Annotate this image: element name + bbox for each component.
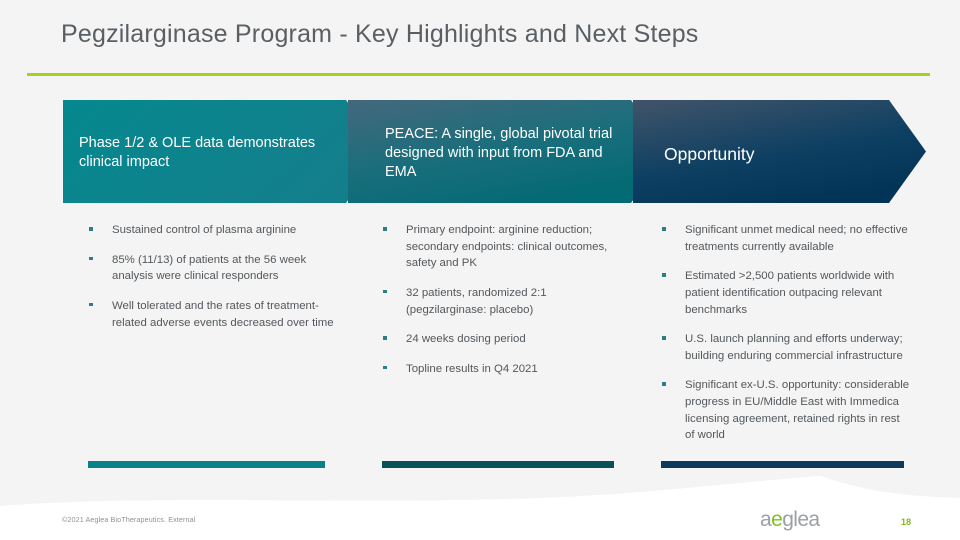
bullet-column-2: Primary endpoint: arginine reduction; se…	[382, 222, 627, 390]
bullet-text: Significant unmet medical need; no effec…	[685, 224, 908, 253]
bullet-text: Topline results in Q4 2021	[406, 363, 538, 375]
bullet-square-icon	[89, 257, 93, 261]
slide-canvas: Pegzilarginase Program - Key Highlights …	[0, 0, 960, 540]
bullet-column-1: Sustained control of plasma arginine 85%…	[88, 222, 338, 344]
bullet-square-icon	[383, 366, 387, 370]
logo-letters-glea: glea	[782, 508, 819, 531]
page-number: 18	[901, 517, 911, 527]
column-3-accent-bar	[661, 461, 904, 468]
bullet-square-icon	[89, 303, 93, 307]
title-underline-rule	[27, 73, 930, 76]
bullet-square-icon	[662, 227, 666, 231]
bullet-text: U.S. launch planning and efforts underwa…	[685, 333, 903, 362]
list-item: 24 weeks dosing period	[382, 331, 627, 348]
chevron-step-1-label: Phase 1/2 & OLE data demonstrates clinic…	[79, 134, 339, 172]
bullet-square-icon	[662, 336, 666, 340]
bullet-square-icon	[89, 227, 93, 231]
list-item: Significant ex-U.S. opportunity: conside…	[661, 377, 911, 444]
bullet-text: 32 patients, randomized 2:1 (pegzilargin…	[406, 287, 547, 316]
bullet-square-icon	[383, 227, 387, 231]
list-item: Primary endpoint: arginine reduction; se…	[382, 222, 627, 272]
chevron-step-2-label: PEACE: A single, global pivotal trial de…	[385, 125, 620, 182]
list-item: Sustained control of plasma arginine	[88, 222, 338, 239]
list-item: 85% (11/13) of patients at the 56 week a…	[88, 252, 338, 285]
list-item: U.S. launch planning and efforts underwa…	[661, 331, 911, 364]
bullet-text: Estimated >2,500 patients worldwide with…	[685, 270, 894, 315]
list-item: 32 patients, randomized 2:1 (pegzilargin…	[382, 285, 627, 318]
bullet-text: Well tolerated and the rates of treatmen…	[112, 300, 334, 329]
aeglea-logo: aeglea	[760, 508, 820, 532]
chevron-step-3-label: Opportunity	[664, 143, 894, 166]
logo-letter-e: e	[771, 508, 782, 531]
bullet-text: Significant ex-U.S. opportunity: conside…	[685, 379, 909, 441]
list-item: Significant unmet medical need; no effec…	[661, 222, 911, 255]
page-title: Pegzilarginase Program - Key Highlights …	[61, 20, 699, 49]
copyright-text: ©2021 Aeglea BioTherapeutics. External	[62, 515, 195, 524]
bullet-square-icon	[662, 382, 666, 386]
column-2-accent-bar	[382, 461, 614, 468]
bullet-square-icon	[662, 273, 666, 277]
bullet-text: 85% (11/13) of patients at the 56 week a…	[112, 254, 306, 283]
bullet-square-icon	[383, 290, 387, 294]
list-item: Topline results in Q4 2021	[382, 361, 627, 378]
bullet-text: Primary endpoint: arginine reduction; se…	[406, 224, 607, 269]
bullet-column-3: Significant unmet medical need; no effec…	[661, 222, 911, 457]
column-1-accent-bar	[88, 461, 325, 468]
logo-letter-a: a	[760, 508, 771, 531]
list-item: Well tolerated and the rates of treatmen…	[88, 298, 338, 331]
list-item: Estimated >2,500 patients worldwide with…	[661, 268, 911, 318]
bullet-text: 24 weeks dosing period	[406, 333, 526, 345]
bullet-text: Sustained control of plasma arginine	[112, 224, 296, 236]
bullet-square-icon	[383, 336, 387, 340]
